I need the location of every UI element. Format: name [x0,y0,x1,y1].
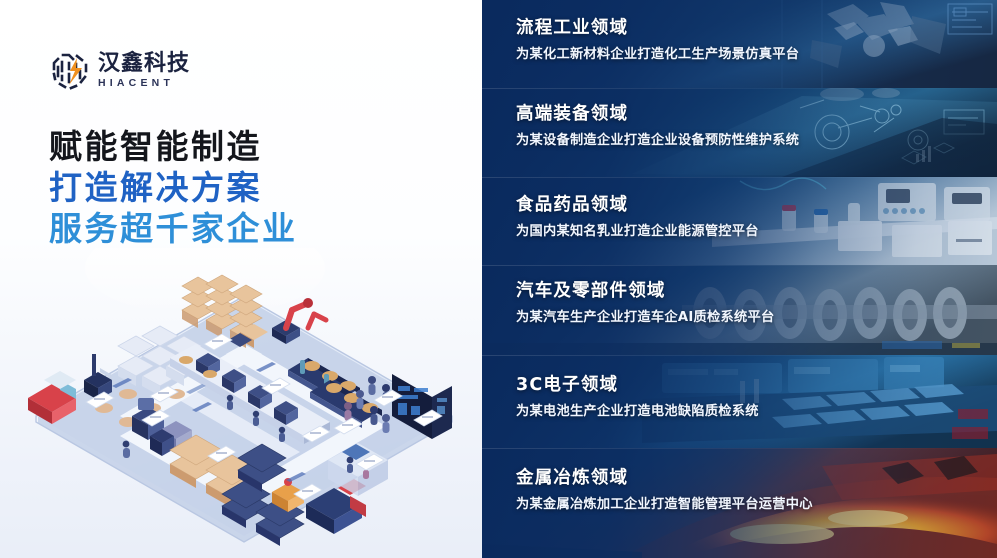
headline: 赋能智能制造 打造解决方案 服务超千家企业 [49,126,298,249]
band-divider [482,265,997,266]
brand-name-en: HIACENT [98,76,190,90]
sector-band[interactable]: 3C电子领域 为某电池生产企业打造电池缺陷质检系统 [482,355,997,448]
sector-subtitle: 为某金属冶炼加工企业打造智能管理平台运营中心 [516,497,813,513]
sector-title: 汽车及零部件领域 [516,281,775,302]
sector-band[interactable]: 食品药品领域 为国内某知名乳业打造企业能源管控平台 [482,177,997,265]
isometric-smart-factory-illustration [0,248,482,558]
headline-line-1: 赋能智能制造 [49,126,298,167]
band-divider [482,448,997,449]
brand-logo: 汉鑫科技 HIACENT [49,49,190,93]
sector-subtitle: 为某化工新材料企业打造化工生产场景仿真平台 [516,47,799,63]
sector-subtitle: 为某设备制造企业打造企业设备预防性维护系统 [516,133,799,149]
sector-subtitle: 为国内某知名乳业打造企业能源管控平台 [516,224,759,240]
sector-band[interactable]: 金属冶炼领域 为某金属冶炼加工企业打造智能管理平台运营中心 [482,448,997,558]
brand-name-cn: 汉鑫科技 [98,52,190,75]
sector-subtitle: 为某电池生产企业打造电池缺陷质检系统 [516,404,759,420]
band-divider [482,177,997,178]
band-divider [482,88,997,89]
sector-title: 金属冶炼领域 [516,468,813,489]
sector-title: 流程工业领域 [516,18,799,39]
sector-title: 高端装备领域 [516,104,799,125]
headline-line-2: 打造解决方案 [49,167,298,208]
sector-band[interactable]: 流程工业领域 为某化工新材料企业打造化工生产场景仿真平台 [482,0,997,88]
hexagon-circuit-logo-icon [49,49,91,93]
headline-line-3: 服务超千家企业 [49,208,298,249]
sector-band[interactable]: 高端装备领域 为某设备制造企业打造企业设备预防性维护系统 [482,88,997,177]
sector-subtitle: 为某汽车生产企业打造车企AI质检系统平台 [516,310,775,326]
sector-band[interactable]: 汽车及零部件领域 为某汽车生产企业打造车企AI质检系统平台 [482,265,997,355]
band-divider [482,355,997,356]
sector-title: 食品药品领域 [516,195,759,216]
left-panel: 汉鑫科技 HIACENT 赋能智能制造 打造解决方案 服务超千家企业 [0,0,482,558]
marketing-poster: 汉鑫科技 HIACENT 赋能智能制造 打造解决方案 服务超千家企业 [0,0,997,558]
sector-title: 3C电子领域 [516,375,759,396]
sector-showcase-panel: 流程工业领域 为某化工新材料企业打造化工生产场景仿真平台 [482,0,997,558]
